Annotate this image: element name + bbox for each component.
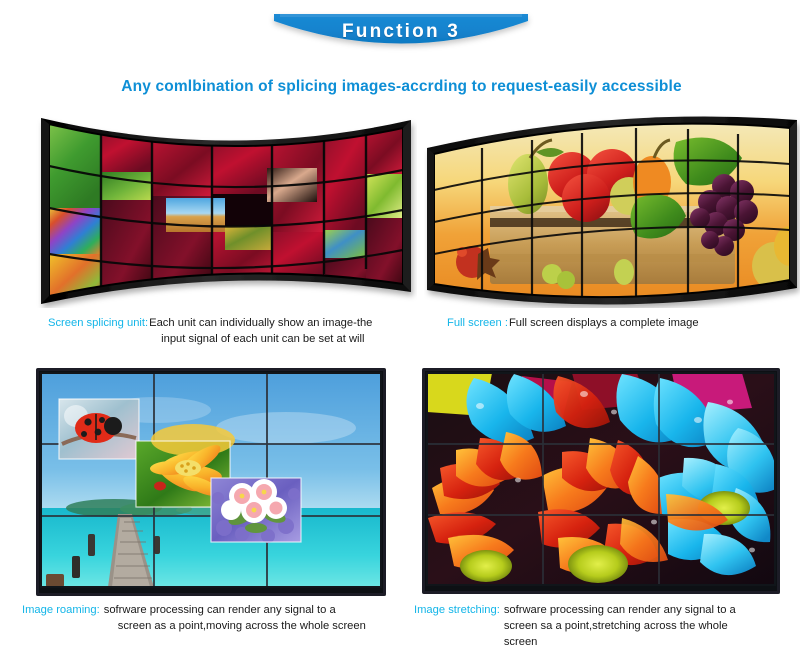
caption-screen-splicing-unit: Screen splicing unit: Each unit can indi… [48, 315, 388, 347]
caption-label: Full screen : [447, 315, 508, 331]
curved-video-wall-single-image-graphic [424, 114, 800, 308]
caption-label: Image roaming: [22, 602, 100, 618]
flat-video-wall-roaming-windows-graphic [36, 368, 386, 596]
page-subtitle: Any comlbination of splicing images-accr… [0, 78, 803, 96]
banner-ribbon-shape [266, 10, 536, 66]
roaming-window-ladybug[interactable] [59, 399, 139, 459]
function-banner: Function 3 [266, 10, 536, 66]
caption-label: Screen splicing unit: [48, 315, 148, 331]
roaming-window-pink-flowers[interactable] [211, 478, 301, 543]
flat-video-wall-stretched-image-graphic [422, 368, 780, 594]
caption-text: Each unit can individually show an image… [149, 315, 388, 347]
page-root: Function 3 Any comlbination of splicing … [0, 0, 803, 661]
wall-full-screen[interactable] [424, 114, 800, 308]
caption-text: Full screen displays a complete image [509, 315, 787, 331]
wall-screen-splicing-unit[interactable] [35, 114, 417, 308]
caption-line: screen as a point,moving across the whol… [118, 618, 366, 634]
caption-text: sofrware processing can render any signa… [504, 602, 792, 650]
caption-line: Full screen displays a complete image [509, 317, 699, 329]
wall-content [41, 373, 381, 587]
wall-content [427, 373, 778, 585]
caption-text: sofrware processing can render any signa… [104, 602, 400, 634]
caption-line: input signal of each unit can be set at … [161, 331, 364, 347]
caption-line: sofrware processing can render any signa… [504, 604, 736, 616]
caption-line: Each unit can individually show an image… [149, 317, 372, 329]
curved-video-wall-multi-source-graphic [35, 114, 417, 308]
caption-line: sofrware processing can render any signa… [104, 604, 336, 616]
caption-image-roaming: Image roaming: sofrware processing can r… [22, 602, 400, 634]
caption-line: screen sa a point,stretching across the … [504, 620, 728, 632]
caption-full-screen: Full screen : Full screen displays a com… [447, 315, 787, 331]
wall-image-stretching[interactable] [422, 368, 780, 594]
wall-image-roaming[interactable] [36, 368, 386, 596]
caption-line: screen [504, 636, 538, 648]
caption-label: Image stretching: [414, 602, 500, 618]
caption-image-stretching: Image stretching: sofrware processing ca… [414, 602, 792, 650]
